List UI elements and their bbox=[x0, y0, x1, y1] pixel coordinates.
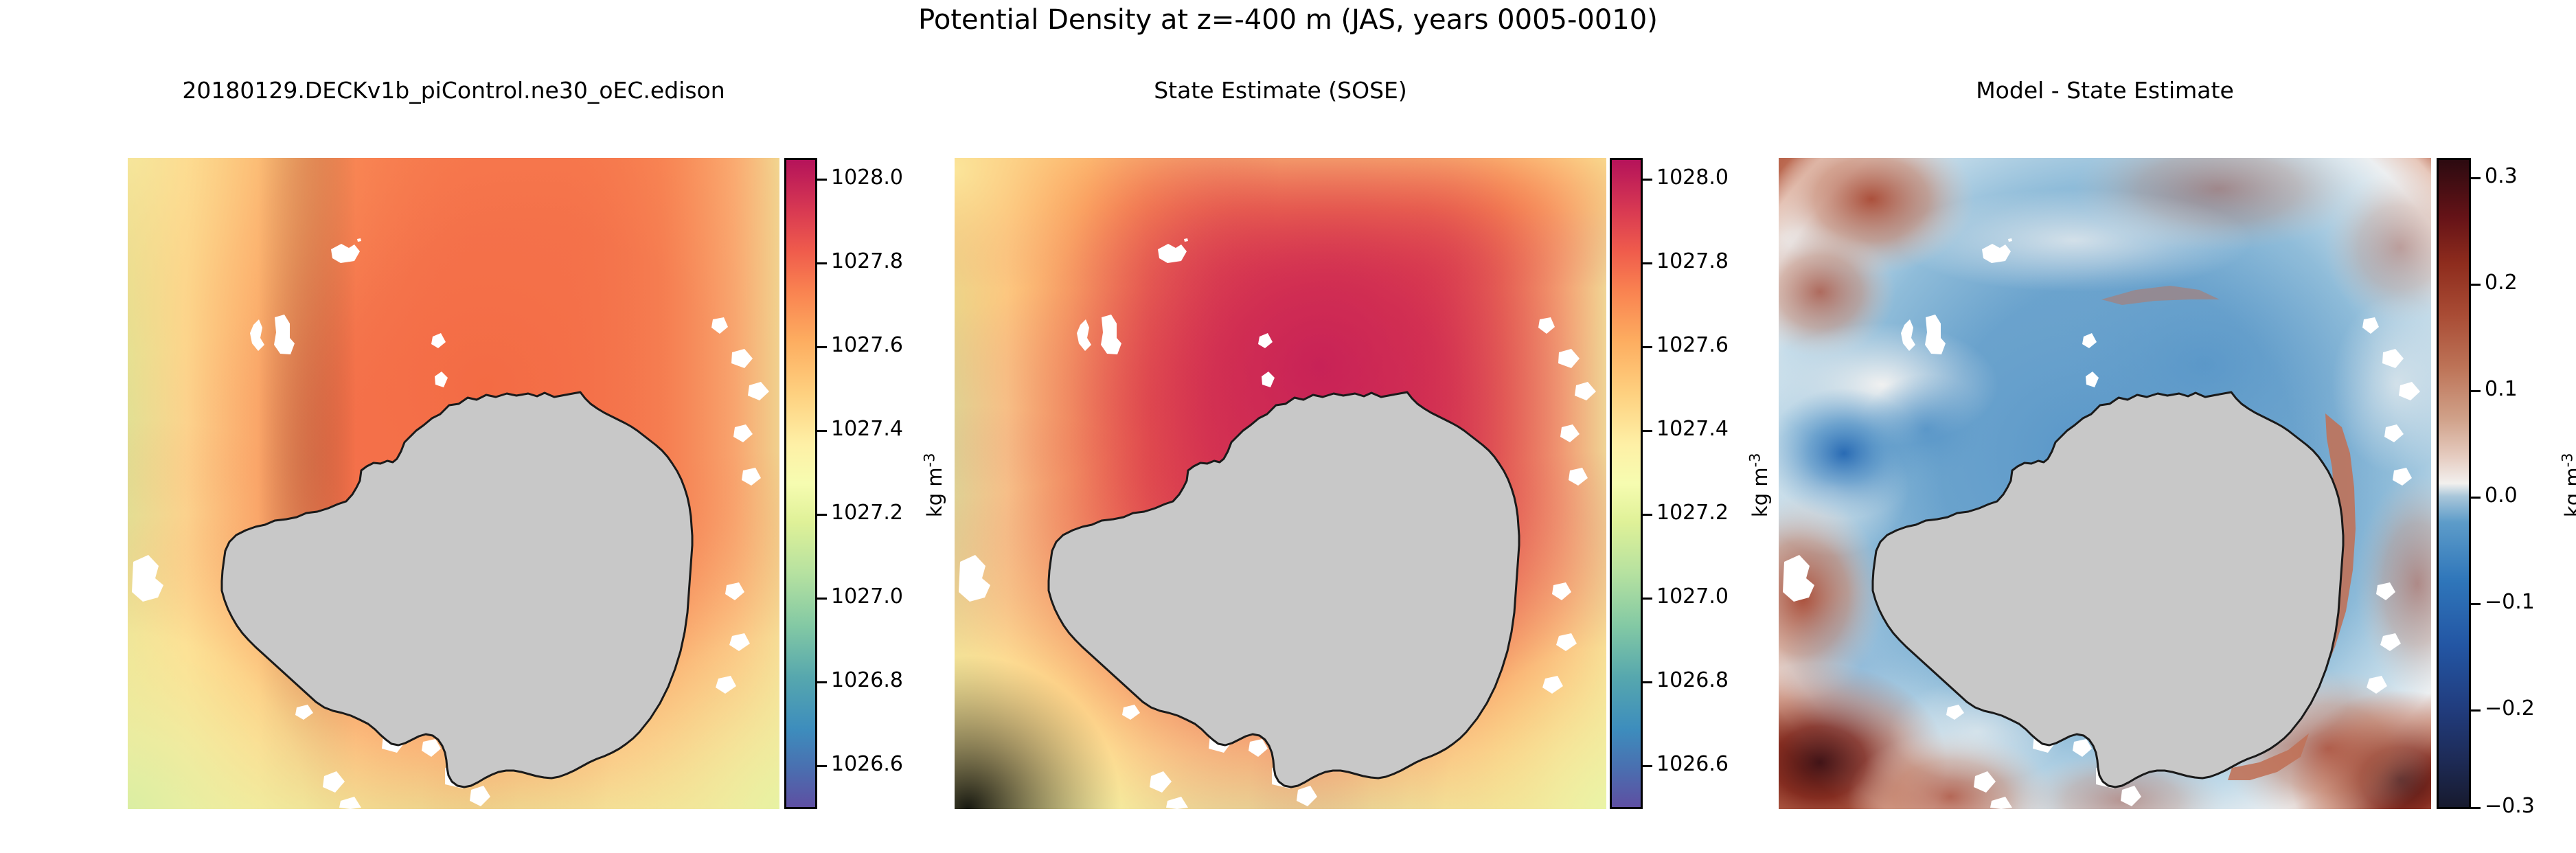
colorbar-model-tick-2 bbox=[817, 346, 827, 348]
colorbar-sose-box bbox=[1610, 158, 1643, 809]
colorbar-model-tick-5 bbox=[817, 598, 827, 600]
colorbar-sose-tick-6 bbox=[1643, 681, 1652, 683]
colorbar-model-ticklabel-1: 1027.8 bbox=[831, 251, 903, 272]
colorbar-model-tick-3 bbox=[817, 430, 827, 432]
colorbar-model-ticklabel-2: 1027.6 bbox=[831, 335, 903, 356]
colorbar-difference-tick-0 bbox=[2471, 177, 2481, 179]
panel-title-sose: State Estimate (SOSE) bbox=[955, 77, 1606, 104]
colorbar-difference-tick-5 bbox=[2471, 709, 2481, 712]
colorbar-difference-tick-3 bbox=[2471, 497, 2481, 499]
colorbar-model-ticklabel-5: 1027.0 bbox=[831, 587, 903, 607]
colorbar-model-tick-6 bbox=[817, 681, 827, 683]
colorbar-sose-ticklabel-1: 1027.8 bbox=[1656, 251, 1729, 272]
colorbar-model-ticklabel-3: 1027.4 bbox=[831, 419, 903, 440]
colorbar-difference-ticklabel-3: 0.0 bbox=[2485, 486, 2518, 506]
colorbar-model-unit: kg m-3 bbox=[921, 453, 946, 518]
colorbar-model-ticklabel-7: 1026.6 bbox=[831, 754, 903, 775]
colorbar-sose-gradient bbox=[1612, 160, 1641, 807]
colorbar-sose-ticklabel-0: 1028.0 bbox=[1656, 168, 1729, 188]
colorbar-difference-ticklabel-0: 0.3 bbox=[2485, 166, 2518, 187]
colorbar-difference-unit-exponent: -3 bbox=[2559, 453, 2575, 468]
panel-title-model: 20180129.DECKv1b_piControl.ne30_oEC.edis… bbox=[128, 77, 779, 104]
map-panel-difference[interactable] bbox=[1779, 158, 2431, 809]
colorbar-difference-tick-2 bbox=[2471, 390, 2481, 392]
colorbar-sose-ticklabel-4: 1027.2 bbox=[1656, 503, 1729, 523]
colorbar-sose-tick-5 bbox=[1643, 598, 1652, 600]
figure-suptitle: Potential Density at z=-400 m (JAS, year… bbox=[0, 4, 2576, 36]
colorbar-model-box bbox=[784, 158, 817, 809]
colorbar-model-unit-exponent: -3 bbox=[921, 453, 937, 468]
colorbar-sose-unit: kg m-3 bbox=[1746, 453, 1772, 518]
colorbar-model-tick-4 bbox=[817, 514, 827, 516]
colorbar-sose-ticklabel-2: 1027.6 bbox=[1656, 335, 1729, 356]
colorbar-sose: 1028.0 1027.8 1027.6 1027.4 1027.2 1027.… bbox=[1610, 158, 1643, 809]
colorbar-sose-ticklabel-6: 1026.8 bbox=[1656, 670, 1729, 691]
colorbar-sose-tick-0 bbox=[1643, 179, 1652, 181]
colorbar-sose-tick-4 bbox=[1643, 514, 1652, 516]
colorbar-model-ticklabel-0: 1028.0 bbox=[831, 168, 903, 188]
colorbar-model: 1028.0 1027.8 1027.6 1027.4 1027.2 1027.… bbox=[784, 158, 817, 809]
colorbar-sose-ticklabel-3: 1027.4 bbox=[1656, 419, 1729, 440]
colorbar-difference-ticklabel-1: 0.2 bbox=[2485, 273, 2518, 293]
colorbar-difference-ticklabel-2: 0.1 bbox=[2485, 379, 2518, 400]
colorbar-model-tick-0 bbox=[817, 179, 827, 181]
colorbar-sose-tick-1 bbox=[1643, 262, 1652, 264]
colorbar-model-ticklabel-6: 1026.8 bbox=[831, 670, 903, 691]
colorbar-difference-tick-4 bbox=[2471, 603, 2481, 605]
colorbar-difference-unit-text: kg m bbox=[2561, 467, 2576, 517]
map-panel-model[interactable] bbox=[128, 158, 779, 809]
colorbar-model-gradient bbox=[786, 160, 815, 807]
panel-title-difference: Model - State Estimate bbox=[1779, 77, 2431, 104]
colorbar-sose-unit-exponent: -3 bbox=[1746, 453, 1763, 468]
colorbar-difference: 0.3 0.2 0.1 0.0 −0.1 −0.2 −0.3 kg m-3 bbox=[2437, 158, 2471, 809]
colorbar-model-unit-text: kg m bbox=[923, 467, 946, 517]
colorbar-difference-box bbox=[2437, 158, 2471, 809]
colorbar-sose-ticklabel-7: 1026.6 bbox=[1656, 754, 1729, 775]
colorbar-difference-gradient bbox=[2439, 160, 2469, 807]
colorbar-sose-ticklabel-5: 1027.0 bbox=[1656, 587, 1729, 607]
colorbar-sose-tick-7 bbox=[1643, 765, 1652, 767]
colorbar-model-tick-1 bbox=[817, 262, 827, 264]
colorbar-difference-ticklabel-6: −0.3 bbox=[2485, 796, 2535, 817]
colorbar-sose-tick-2 bbox=[1643, 346, 1652, 348]
colorbar-difference-unit: kg m-3 bbox=[2559, 453, 2576, 518]
colorbar-difference-ticklabel-4: −0.1 bbox=[2485, 592, 2535, 613]
colorbar-difference-tick-1 bbox=[2471, 284, 2481, 286]
colorbar-model-ticklabel-4: 1027.2 bbox=[831, 503, 903, 523]
colorbar-sose-unit-text: kg m bbox=[1748, 467, 1772, 517]
colorbar-model-tick-7 bbox=[817, 765, 827, 767]
colorbar-difference-ticklabel-5: −0.2 bbox=[2485, 698, 2535, 719]
colorbar-difference-tick-6 bbox=[2471, 807, 2481, 809]
map-panel-sose[interactable] bbox=[955, 158, 1606, 809]
figure-canvas: Potential Density at z=-400 m (JAS, year… bbox=[0, 0, 2576, 853]
colorbar-sose-tick-3 bbox=[1643, 430, 1652, 432]
